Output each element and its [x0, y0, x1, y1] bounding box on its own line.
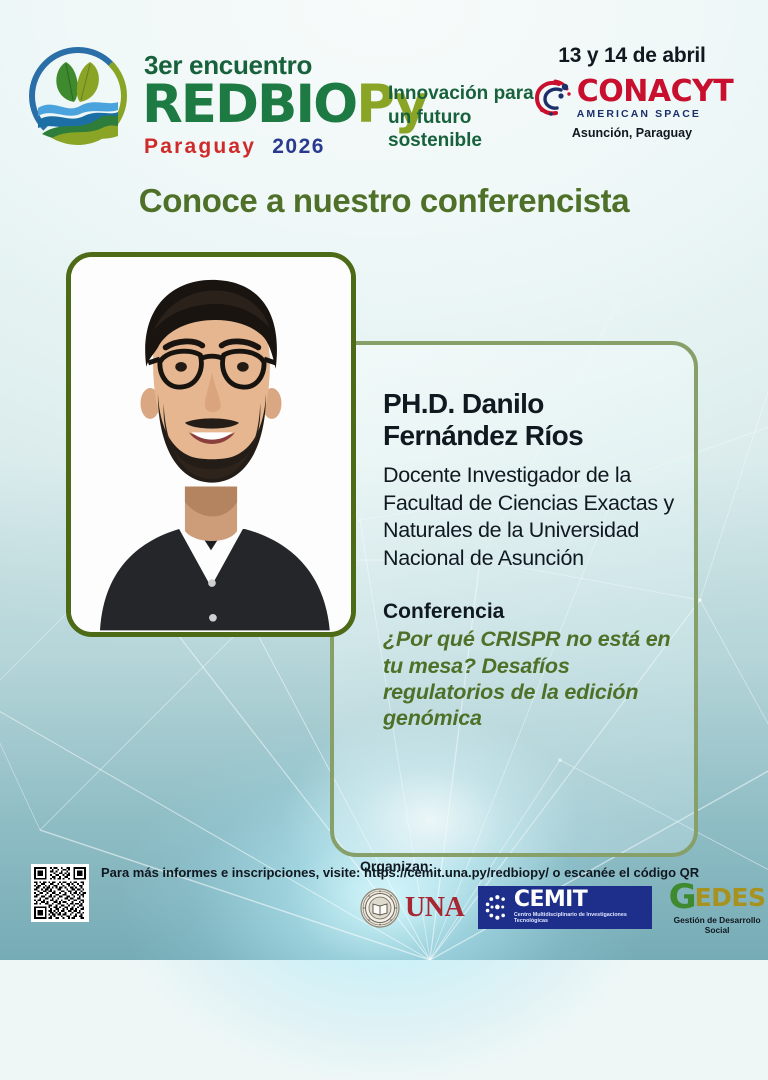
una-seal-icon [360, 888, 400, 928]
event-subline: Paraguay 2026 [144, 135, 325, 159]
page-title: Conoce a nuestro conferencista [0, 182, 768, 220]
speaker-role: Docente Investigador de la Facultad de C… [383, 462, 683, 572]
redbio-event-logo: 3er encuentro REDBIOPy Paraguay 2026 [22, 32, 382, 157]
organizer-logo-cemit: CEMIT Centro Multidisciplinario de Inves… [478, 886, 652, 929]
organizer-logo-una: UNA [360, 888, 464, 928]
poster-footer: Para más informes e inscripciones, visit… [0, 850, 768, 960]
event-year: 2026 [272, 135, 325, 158]
conacyt-logo: CONACYT AMERICAN SPACE [522, 78, 742, 120]
conacyt-name: CONACYT [577, 78, 734, 106]
event-country: Paraguay [144, 135, 256, 158]
speaker-name: PH.D. Danilo Fernández Ríos [383, 388, 683, 452]
organizers-label: Organizan: [360, 858, 768, 874]
wordmark-main: REDBIO [142, 74, 356, 135]
conference-label: Conferencia [383, 600, 683, 624]
event-dates: 13 y 14 de abril [522, 44, 742, 68]
conacyt-text: CONACYT AMERICAN SPACE [577, 78, 734, 120]
gedes-wordmark: GEDES [666, 880, 768, 914]
event-tagline: Innovación para un futuro sostenible [388, 82, 538, 153]
speaker-portrait [71, 257, 351, 632]
poster-header: 3er encuentro REDBIOPy Paraguay 2026 Inn… [0, 0, 768, 170]
conacyt-city: Asunción, Paraguay [522, 126, 742, 140]
conacyt-subtitle: AMERICAN SPACE [577, 108, 734, 120]
qr-code-icon[interactable] [31, 864, 89, 922]
event-date-sponsor-column: 13 y 14 de abril CONACYT AMERICAN SPACE [522, 44, 742, 140]
gedes-initial: G [669, 880, 695, 914]
cemit-name: CEMIT [514, 890, 646, 911]
speaker-info-content: PH.D. Danilo Fernández Ríos Docente Inve… [383, 388, 683, 731]
conference-title: ¿Por qué CRISPR no está en tu mesa? Desa… [383, 626, 683, 731]
organizer-logos-row: UNA CEMIT [360, 880, 768, 935]
cemit-text: CEMIT Centro Multidisciplinario de Inves… [514, 890, 646, 925]
conacyt-network-icon [531, 78, 575, 120]
leaf-water-circle-icon [22, 40, 134, 152]
gedes-name-rest: EDES [695, 885, 766, 910]
una-name: UNA [405, 892, 464, 924]
cemit-circle-dots-icon [484, 892, 511, 922]
speaker-photo-card [66, 252, 356, 637]
event-wordmark: REDBIOPy [142, 78, 427, 131]
organizers-block: Organizan: [360, 858, 768, 935]
cemit-subtitle: Centro Multidisciplinario de Investigaci… [514, 912, 646, 926]
gedes-subtitle: Gestión de Desarrollo Social [666, 915, 768, 935]
organizer-logo-gedes: GEDES Gestión de Desarrollo Social [666, 880, 768, 935]
